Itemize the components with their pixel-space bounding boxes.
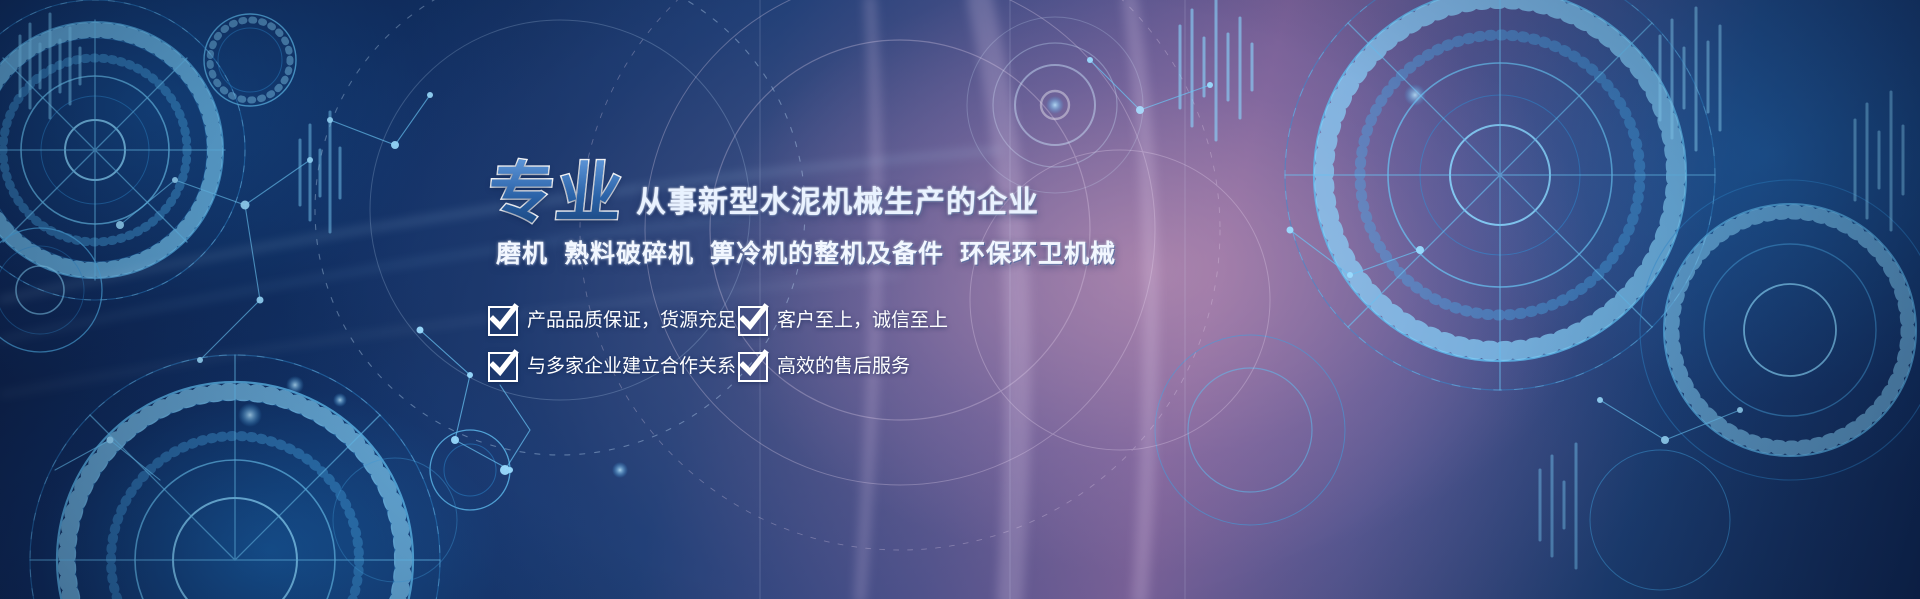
banner-text-block: 专业 专业 从事新型水泥机械生产的企业 磨机熟料破碎机箅冷机的整机及备件环保环卫… xyxy=(488,168,1068,428)
checkbox-icon xyxy=(738,306,768,336)
product-line: 磨机熟料破碎机箅冷机的整机及备件环保环卫机械 xyxy=(496,240,1116,268)
product-item-3: 环保环卫机械 xyxy=(960,240,1116,268)
feature-item: 客户至上，诚信至上 xyxy=(738,306,948,336)
feature-item: 高效的售后服务 xyxy=(738,352,910,382)
feature-text: 与多家企业建立合作关系 xyxy=(527,356,736,378)
banner-root: 专业 专业 从事新型水泥机械生产的企业 磨机熟料破碎机箅冷机的整机及备件环保环卫… xyxy=(0,0,1920,599)
checkbox-icon xyxy=(488,306,518,336)
feature-text: 高效的售后服务 xyxy=(777,356,910,378)
feature-list: 产品品质保证，货源充足 客户至上，诚信至上 与多家企业建立合作关系 xyxy=(488,298,1048,390)
feature-item: 与多家企业建立合作关系 xyxy=(488,352,738,382)
headline-tail: 从事新型水泥机械生产的企业 xyxy=(636,188,1039,218)
feature-text: 产品品质保证，货源充足 xyxy=(527,310,736,332)
feature-row: 与多家企业建立合作关系 高效的售后服务 xyxy=(488,344,1048,390)
feature-row: 产品品质保证，货源充足 客户至上，诚信至上 xyxy=(488,298,1048,344)
feature-item: 产品品质保证，货源充足 xyxy=(488,306,738,336)
product-item-0: 磨机 xyxy=(496,240,548,268)
headline: 专业 专业 从事新型水泥机械生产的企业 xyxy=(488,168,1068,230)
product-item-2: 箅冷机的整机及备件 xyxy=(710,240,944,268)
feature-text: 客户至上，诚信至上 xyxy=(777,310,948,332)
checkbox-icon xyxy=(738,352,768,382)
product-item-1: 熟料破碎机 xyxy=(564,240,694,268)
checkbox-icon xyxy=(488,352,518,382)
headline-emphasis: 专业 xyxy=(485,160,628,226)
